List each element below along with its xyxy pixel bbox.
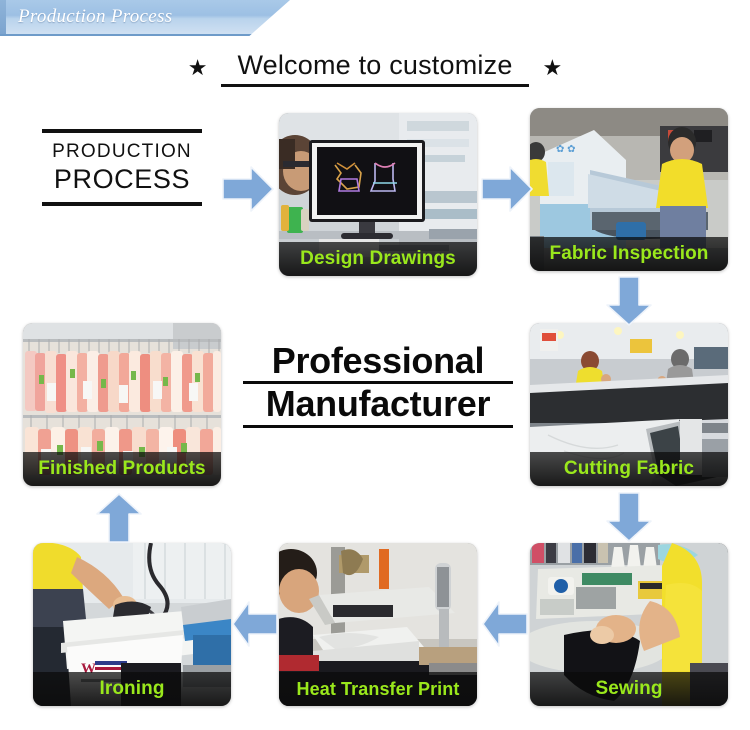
process-word: PROCESS (42, 163, 202, 202)
caption-design-drawings: Design Drawings (279, 242, 477, 276)
banner-left-edge (0, 0, 6, 34)
caption-text: Fabric Inspection (549, 243, 708, 265)
caption-cutting-fabric: Cutting Fabric (530, 452, 728, 486)
step-card-design-drawings[interactable]: Design Drawings (279, 113, 477, 276)
svg-text:✿ ✿: ✿ ✿ (556, 144, 576, 155)
step-card-fabric-inspection[interactable]: ✿ ✿ Fabric Inspection (530, 108, 728, 271)
arrow-to-inspection (480, 163, 534, 215)
arrow-to-finished (93, 492, 145, 544)
production-process-heading: PRODUCTION PROCESS (42, 129, 202, 206)
caption-heat-transfer-print: Heat Transfer Print (279, 672, 477, 706)
arrow-to-sewing (603, 491, 655, 543)
caption-ironing: Ironing (33, 672, 231, 706)
caption-finished-products: Finished Products (23, 452, 221, 486)
caption-sewing: Sewing (530, 672, 728, 706)
arrow-to-design (221, 163, 275, 215)
caption-text: Design Drawings (300, 248, 456, 270)
manufacturer-word: Manufacturer (243, 384, 513, 427)
welcome-row: ★ Welcome to customize ★ (0, 46, 750, 90)
arrow-to-ironing (231, 598, 279, 650)
banner-title: Production Process (18, 6, 172, 28)
caption-text: Finished Products (38, 458, 205, 480)
arrow-to-heat (481, 598, 529, 650)
caption-text: Ironing (99, 678, 164, 700)
caption-text: Heat Transfer Print (297, 679, 460, 700)
caption-fabric-inspection: Fabric Inspection (530, 237, 728, 271)
step-card-sewing[interactable]: Sewing (530, 543, 728, 706)
professional-manufacturer-heading: Professional Manufacturer (243, 341, 513, 428)
step-card-finished-products[interactable]: Finished Products (23, 323, 221, 486)
heading-rule-bottom (42, 202, 202, 206)
star-icon-right: ★ (543, 57, 563, 79)
caption-text: Sewing (595, 678, 662, 700)
production-word: PRODUCTION (42, 133, 202, 163)
caption-text: Cutting Fabric (564, 458, 694, 480)
page-banner: Production Process (0, 0, 290, 36)
step-card-ironing[interactable]: W Ironing (33, 543, 231, 706)
step-card-heat-transfer-print[interactable]: Heat Transfer Print (279, 543, 477, 706)
welcome-heading: Welcome to customize (221, 50, 528, 87)
star-icon-left: ★ (188, 57, 208, 79)
arrow-to-cutting (603, 275, 655, 327)
professional-word: Professional (243, 341, 513, 384)
production-process-infographic: { "banner": { "title": "Production Proce… (0, 0, 750, 730)
step-card-cutting-fabric[interactable]: Cutting Fabric (530, 323, 728, 486)
